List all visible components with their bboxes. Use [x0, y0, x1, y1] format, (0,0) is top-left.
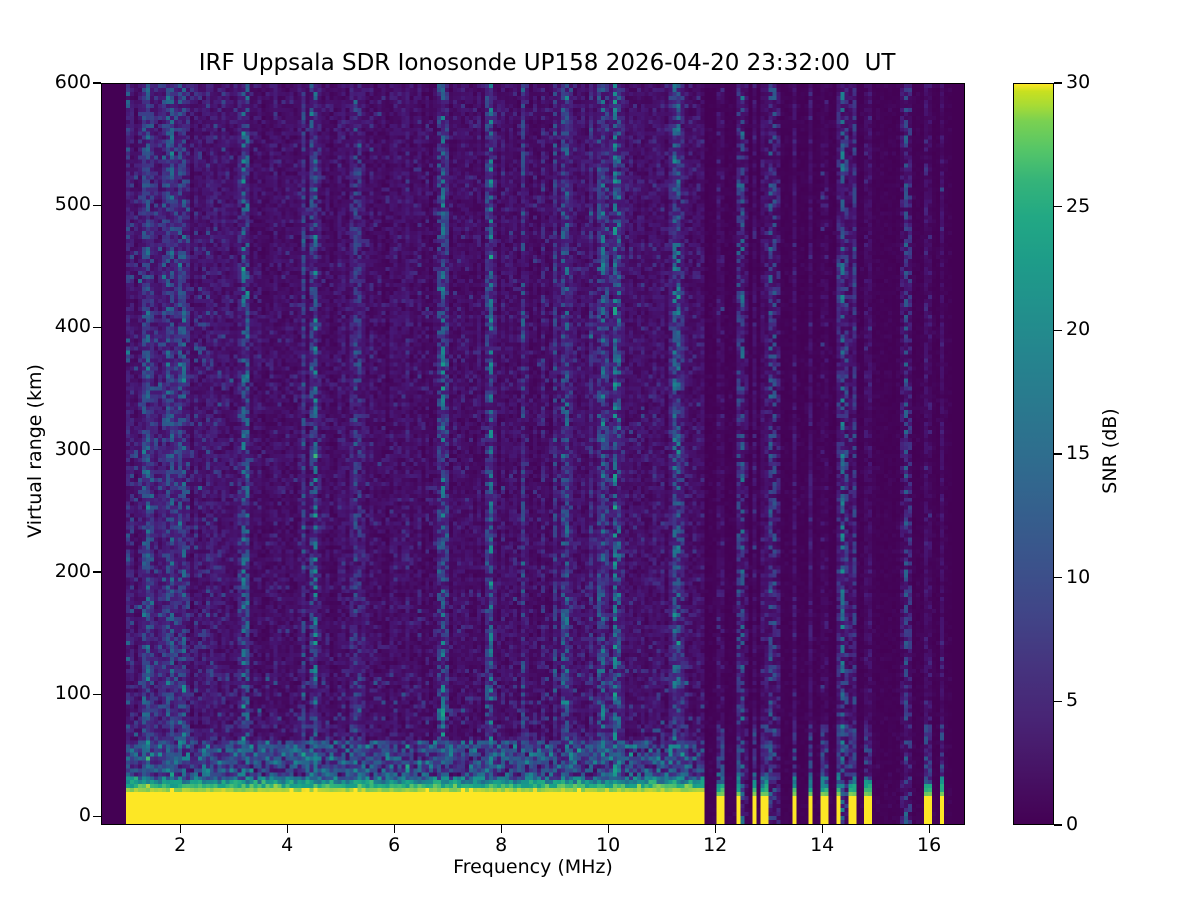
- x-tick-mark: [180, 825, 181, 833]
- y-tick-label: 100: [31, 684, 91, 703]
- y-tick-label: 500: [31, 195, 91, 214]
- colorbar-tick-mark: [1054, 206, 1062, 207]
- colorbar-tick-mark: [1054, 82, 1062, 83]
- x-tick-mark: [287, 825, 288, 833]
- x-tick-mark: [715, 825, 716, 833]
- y-tick-mark: [93, 205, 101, 206]
- snr-heatmap-canvas: [102, 84, 964, 824]
- x-tick-label: 16: [899, 836, 959, 855]
- x-tick-mark: [929, 825, 930, 833]
- y-tick-mark: [93, 449, 101, 450]
- x-tick-label: 12: [685, 836, 745, 855]
- y-tick-label: 0: [31, 806, 91, 825]
- colorbar-label: SNR (dB): [1099, 301, 1121, 601]
- y-tick-mark: [93, 694, 101, 695]
- y-axis-label: Virtual range (km): [24, 301, 46, 601]
- colorbar-tick-mark: [1054, 701, 1062, 702]
- x-tick-label: 6: [364, 836, 424, 855]
- snr-heatmap: [102, 84, 964, 824]
- x-tick-mark: [822, 825, 823, 833]
- x-tick-mark: [394, 825, 395, 833]
- colorbar-tick-label: 30: [1066, 73, 1126, 92]
- x-tick-label: 10: [578, 836, 638, 855]
- colorbar-tick-mark: [1054, 824, 1062, 825]
- y-tick-label: 600: [31, 73, 91, 92]
- x-axis-label: Frequency (MHz): [101, 856, 965, 878]
- ionogram-figure: IRF Uppsala SDR Ionosonde UP158 2026-04-…: [0, 0, 1200, 900]
- colorbar-tick-label: 25: [1066, 197, 1126, 216]
- x-tick-label: 4: [257, 836, 317, 855]
- colorbar-tick-mark: [1054, 577, 1062, 578]
- colorbar-tick-label: 0: [1066, 815, 1126, 834]
- figure-title-line1: IRF Uppsala SDR Ionosonde UP158 2026-04-…: [199, 50, 896, 76]
- y-tick-mark: [93, 816, 101, 817]
- colorbar-tick-mark: [1054, 330, 1062, 331]
- x-tick-mark: [608, 825, 609, 833]
- x-tick-label: 8: [471, 836, 531, 855]
- x-tick-mark: [501, 825, 502, 833]
- y-tick-mark: [93, 571, 101, 572]
- x-tick-label: 14: [792, 836, 852, 855]
- y-tick-mark: [93, 82, 101, 83]
- ionogram-plot-area: [101, 83, 965, 825]
- y-tick-mark: [93, 327, 101, 328]
- x-tick-label: 2: [150, 836, 210, 855]
- colorbar-tick-label: 5: [1066, 691, 1126, 710]
- colorbar: [1013, 83, 1054, 825]
- colorbar-tick-mark: [1054, 453, 1062, 454]
